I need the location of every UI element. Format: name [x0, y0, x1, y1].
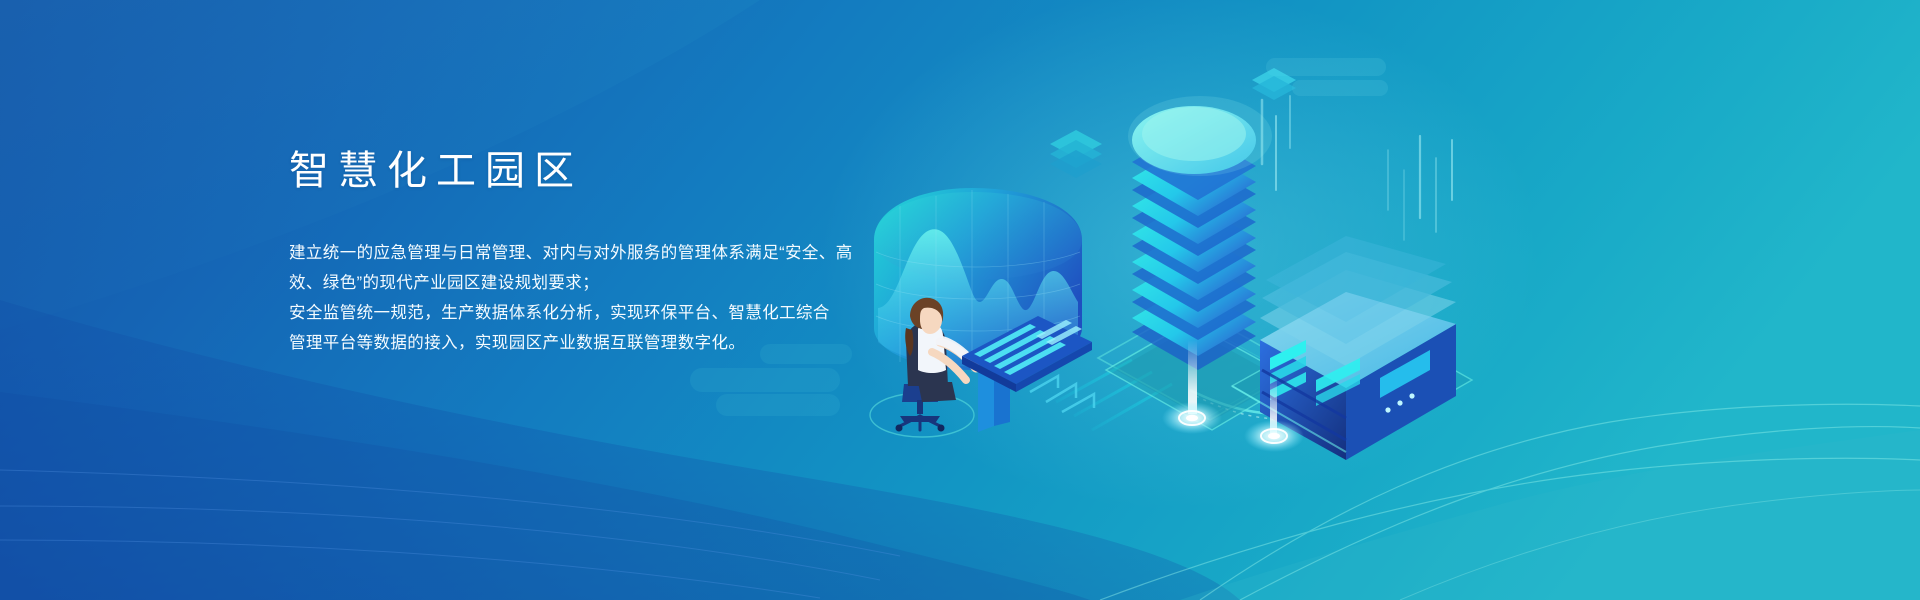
description-line: 管理平台等数据的接入，实现园区产业数据互联管理数字化。	[289, 328, 889, 358]
hero-banner: 智慧化工园区 建立统一的应急管理与日常管理、对内与对外服务的管理体系满足“安全、…	[0, 0, 1920, 600]
banner-description: 建立统一的应急管理与日常管理、对内与对外服务的管理体系满足“安全、高 效、绿色”…	[289, 238, 889, 358]
illustration-svg	[860, 40, 1480, 480]
description-line: 安全监管统一规范，生产数据体系化分析，实现环保平台、智慧化工综合	[289, 298, 889, 328]
isometric-datacenter-illustration	[860, 40, 1420, 460]
step-lines	[1030, 376, 1094, 412]
page-title: 智慧化工园区	[289, 148, 889, 194]
description-line: 建立统一的应急管理与日常管理、对内与对外服务的管理体系满足“安全、高	[289, 238, 889, 268]
description-line: 效、绿色”的现代产业园区建设规划要求；	[289, 268, 889, 298]
data-streaks	[1262, 96, 1452, 240]
banner-copy: 智慧化工园区 建立统一的应急管理与日常管理、对内与对外服务的管理体系满足“安全、…	[289, 148, 889, 358]
